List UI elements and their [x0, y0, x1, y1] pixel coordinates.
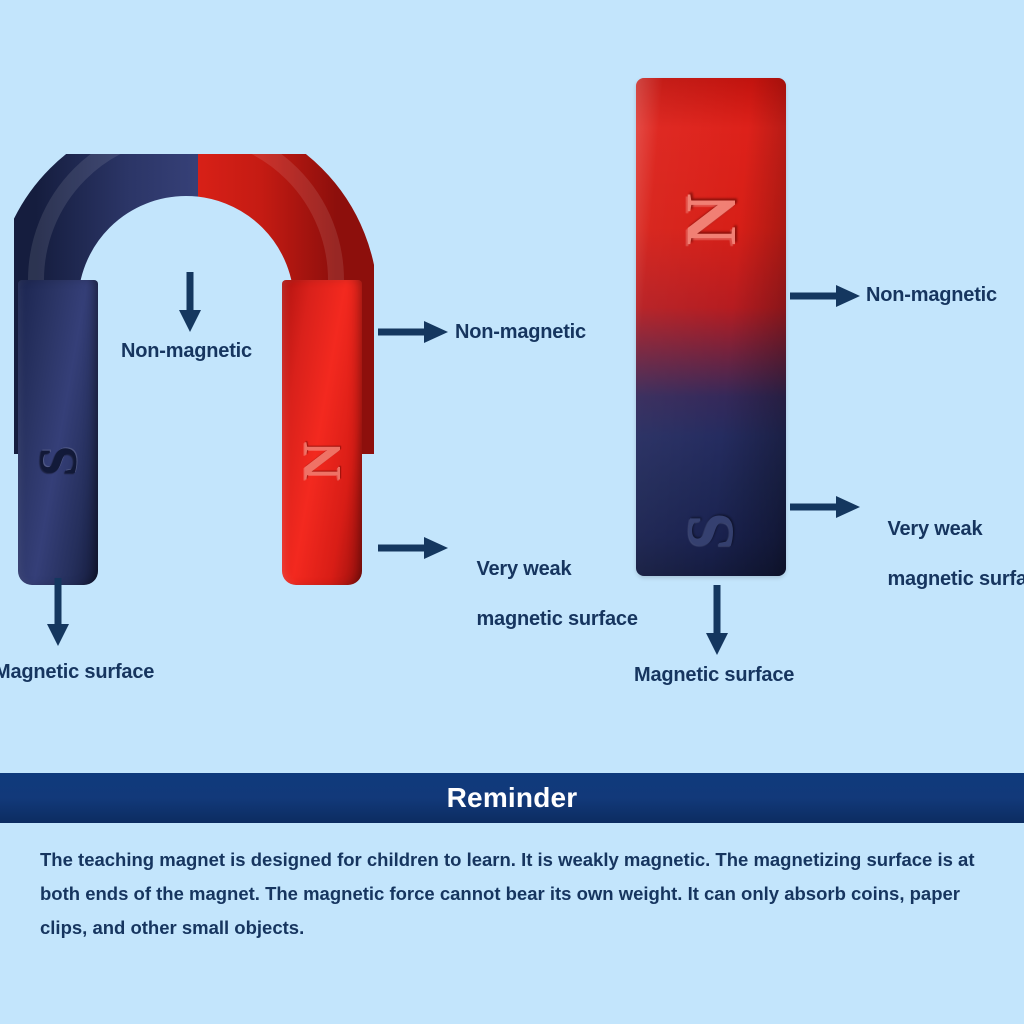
horseshoe-north-pole-letter: N — [291, 426, 353, 496]
label-horseshoe-very-weak-line1: Very weak — [476, 558, 571, 580]
arrow-down-bar-magnetic-surface — [705, 585, 729, 657]
arrow-down-horseshoe-magnetic-surface — [46, 578, 70, 648]
bar-magnet-south-pole-letter: S — [674, 484, 750, 579]
label-horseshoe-side-nonmagnetic: Non-magnetic — [455, 320, 586, 345]
arrow-right-horseshoe-very-weak — [378, 536, 450, 560]
label-bar-very-weak: Very weak magnetic surface — [866, 492, 1024, 617]
product-infographic: S N N S — [0, 0, 1024, 1024]
label-horseshoe-top-nonmagnetic: Non-magnetic — [121, 339, 252, 364]
arrow-right-bar-nonmagnetic — [790, 284, 862, 308]
label-bar-nonmagnetic: Non-magnetic — [866, 283, 997, 308]
arrow-down-horseshoe-nonmagnetic — [178, 272, 202, 334]
reminder-header: Reminder — [0, 773, 1024, 823]
label-bar-very-weak-line1: Very weak — [887, 518, 982, 540]
horseshoe-north-leg: N — [282, 280, 362, 585]
label-bar-very-weak-line2: magnetic surface — [887, 568, 1024, 590]
label-horseshoe-magnetic-surface: Magnetic surface — [0, 660, 154, 685]
reminder-body-text: The teaching magnet is designed for chil… — [40, 843, 984, 945]
arrow-right-bar-very-weak — [790, 495, 862, 519]
arrow-right-horseshoe-nonmagnetic — [378, 320, 450, 344]
horseshoe-south-pole-letter: S — [27, 426, 89, 496]
horseshoe-south-leg: S — [18, 280, 98, 585]
label-bar-magnetic-surface: Magnetic surface — [634, 663, 794, 688]
horseshoe-magnet: S N — [18, 160, 378, 585]
label-horseshoe-very-weak-line2: magnetic surface — [476, 608, 637, 630]
bar-magnet-north-pole-letter: N — [670, 172, 753, 267]
reminder-title: Reminder — [447, 782, 578, 814]
label-horseshoe-very-weak: Very weak magnetic surface — [455, 532, 638, 657]
bar-magnet: N S — [636, 78, 786, 576]
